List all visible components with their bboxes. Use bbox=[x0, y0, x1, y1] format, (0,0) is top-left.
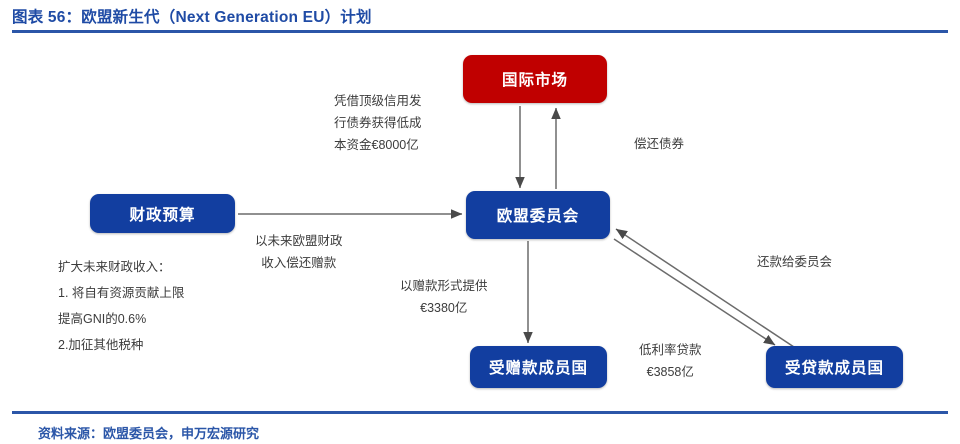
annotation-line: 1. 将自有资源贡献上限 bbox=[58, 280, 184, 306]
edge-loan-states-to-commission bbox=[616, 229, 800, 351]
annotation-line: 提高GNI的0.6% bbox=[58, 306, 184, 332]
annotation-line: €3858亿 bbox=[639, 361, 702, 383]
annotation-bond-issue: 凭借顶级信用发 行债券获得低成 本资金€8000亿 bbox=[334, 90, 422, 156]
annotation-low-rate-loan: 低利率贷款 €3858亿 bbox=[639, 339, 702, 383]
annotation-line: 低利率贷款 bbox=[639, 339, 702, 361]
edge-commission-to-loan-states bbox=[614, 239, 775, 345]
annotation-grant-form: 以赠款形式提供 €3380亿 bbox=[400, 275, 488, 319]
title-divider bbox=[12, 30, 948, 33]
annotation-line: 本资金€8000亿 bbox=[334, 134, 422, 156]
annotation-line: 以未来欧盟财政 bbox=[255, 230, 343, 252]
node-international-market[interactable]: 国际市场 bbox=[463, 55, 607, 103]
annotation-expand-revenue: 扩大未来财政收入： 1. 将自有资源贡献上限 提高GNI的0.6% 2.加征其他… bbox=[58, 254, 184, 358]
diagram-canvas: 国际市场 财政预算 欧盟委员会 受赠款成员国 受贷款成员国 凭借顶级信用发 行债… bbox=[0, 36, 960, 408]
annotation-line: 2.加征其他税种 bbox=[58, 332, 184, 358]
annotation-repay-bond: 偿还债券 bbox=[634, 133, 684, 155]
node-loan-receiving-states[interactable]: 受贷款成员国 bbox=[766, 346, 903, 388]
annotation-line: 凭借顶级信用发 bbox=[334, 90, 422, 112]
annotation-line: 扩大未来财政收入： bbox=[58, 254, 184, 280]
annotation-line: €3380亿 bbox=[400, 297, 488, 319]
annotation-line: 以赠款形式提供 bbox=[400, 275, 488, 297]
annotation-future-revenue: 以未来欧盟财政 收入偿还赠款 bbox=[255, 230, 343, 274]
annotation-repay-commission: 还款给委员会 bbox=[757, 251, 832, 273]
source-divider bbox=[12, 411, 948, 414]
figure-title: 图表 56：欧盟新生代（Next Generation EU）计划 bbox=[12, 5, 372, 27]
annotation-line: 收入偿还赠款 bbox=[255, 252, 343, 274]
node-eu-commission[interactable]: 欧盟委员会 bbox=[466, 191, 610, 239]
figure-root: 图表 56：欧盟新生代（Next Generation EU）计划 bbox=[0, 0, 960, 444]
annotation-line: 行债券获得低成 bbox=[334, 112, 422, 134]
annotation-line: 偿还债券 bbox=[634, 133, 684, 155]
annotation-line: 还款给委员会 bbox=[757, 251, 832, 273]
node-grant-receiving-states[interactable]: 受赠款成员国 bbox=[470, 346, 607, 388]
node-fiscal-budget[interactable]: 财政预算 bbox=[90, 194, 235, 233]
source-note: 资料来源：欧盟委员会，申万宏源研究 bbox=[38, 423, 259, 442]
